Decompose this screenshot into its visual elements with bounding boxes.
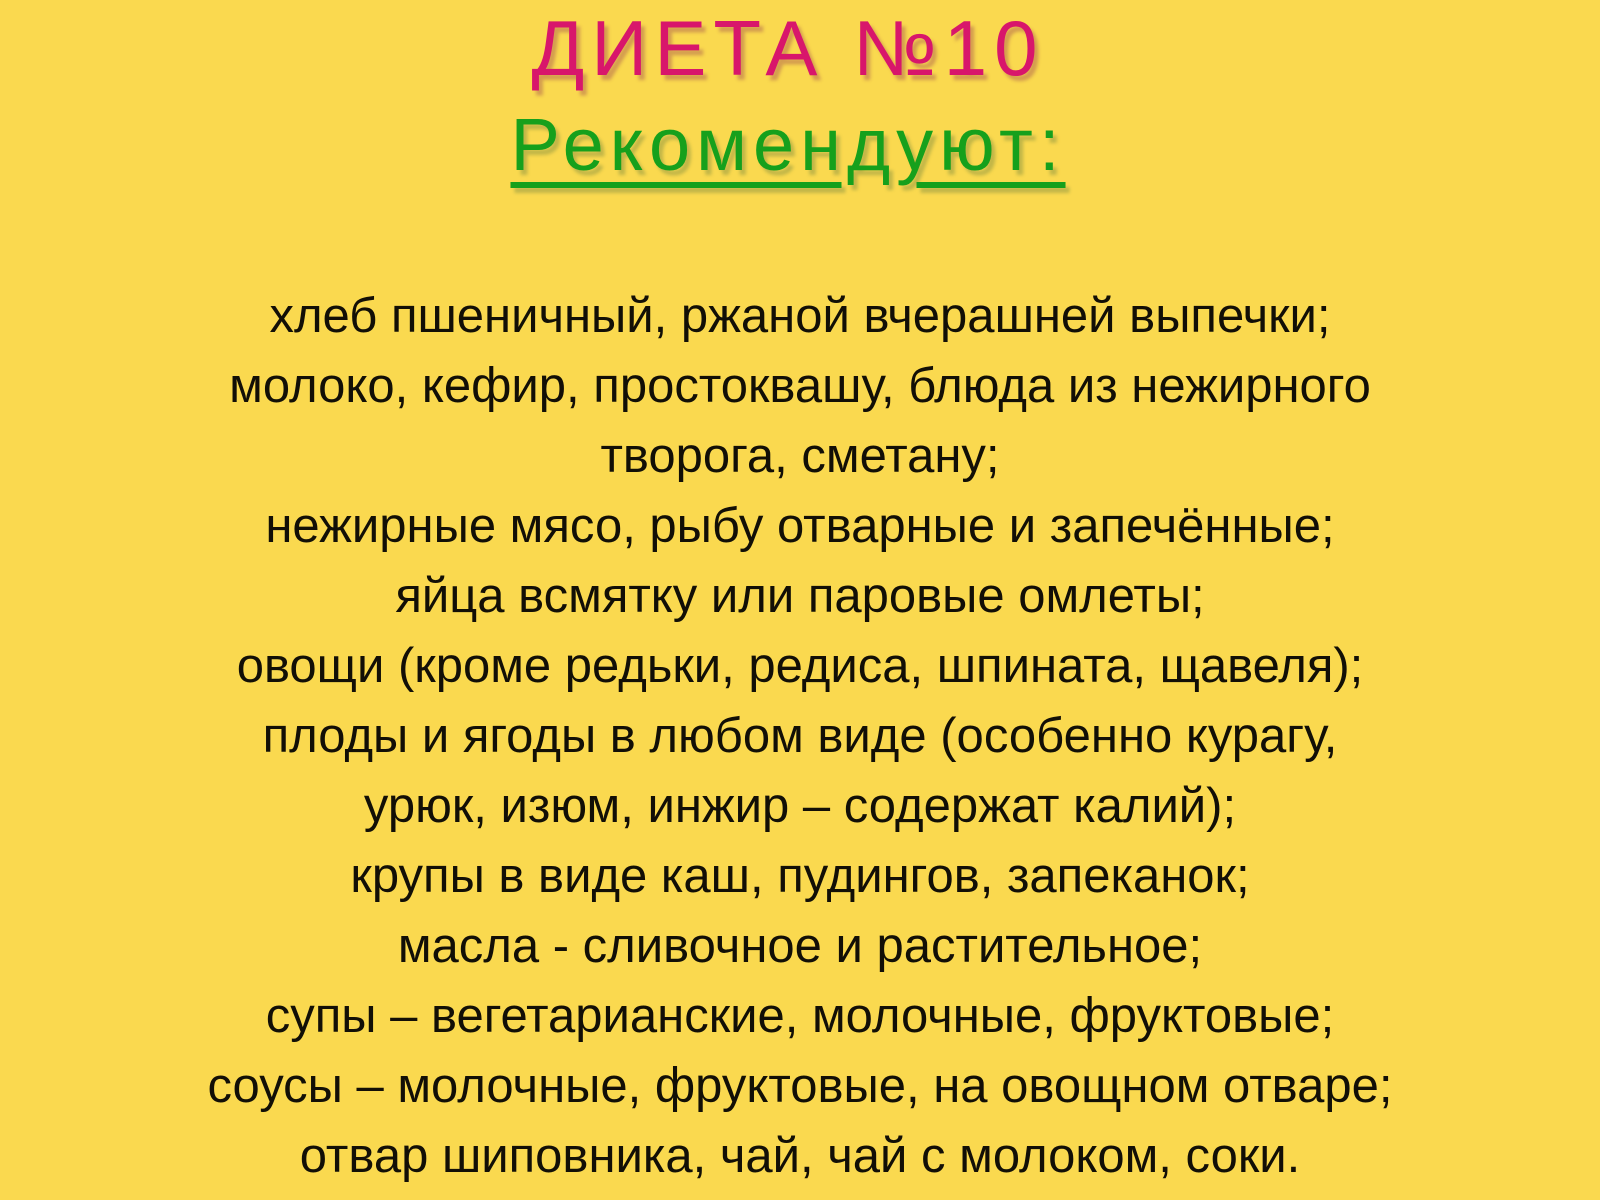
list-item: яйца всмятку или паровые омлеты;	[90, 561, 1510, 631]
slide-root: ДИЕТА №10 Рекомендуют: хлеб пшеничный, р…	[0, 0, 1600, 1200]
list-item: супы – вегетарианские, молочные, фруктов…	[90, 981, 1510, 1051]
list-item: плоды и ягоды в любом виде (особенно кур…	[90, 701, 1510, 771]
list-item: хлеб пшеничный, ржаной вчерашней выпечки…	[90, 281, 1510, 351]
title-block: ДИЕТА №10 Рекомендуют:	[0, 6, 1588, 247]
section-heading-recommended: Рекомендуют:	[510, 104, 1065, 185]
list-item: творога, сметану;	[90, 421, 1510, 491]
list-item: урюк, изюм, инжир – содержат калий);	[90, 771, 1510, 841]
list-item: овощи (кроме редьки, редиса, шпината, ща…	[90, 631, 1510, 701]
list-item: молоко, кефир, простоквашу, блюда из неж…	[90, 351, 1510, 421]
list-item: соусы – молочные, фруктовые, на овощном …	[90, 1051, 1510, 1121]
list-item: отвар шиповника, чай, чай с молоком, сок…	[90, 1121, 1510, 1191]
list-item: масла - сливочное и растительное;	[90, 911, 1510, 981]
list-item: крупы в виде каш, пудингов, запеканок;	[90, 841, 1510, 911]
page-title: ДИЕТА №10	[0, 6, 1588, 90]
recommended-foods-list: хлеб пшеничный, ржаной вчерашней выпечки…	[90, 281, 1510, 1191]
list-item: нежирные мясо, рыбу отварные и запечённы…	[90, 491, 1510, 561]
